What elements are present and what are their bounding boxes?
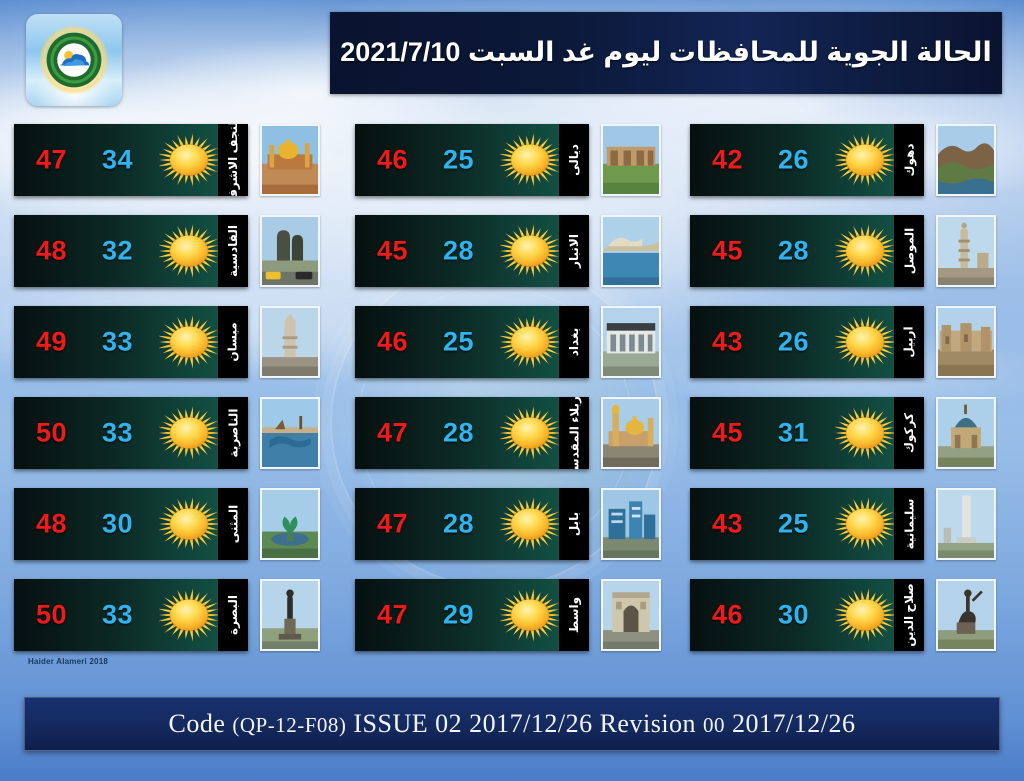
temp-max: 48 <box>36 236 67 267</box>
temp-min: 26 <box>778 145 809 176</box>
city-name-strip: واسط <box>559 579 589 651</box>
condition-icon <box>159 223 219 279</box>
city-name: النجف الاشرف <box>227 124 239 196</box>
city-row[interactable]: 4933ميسان <box>14 306 334 378</box>
condition-icon <box>500 314 560 370</box>
kirkuk-dome-photo <box>936 397 996 469</box>
forecast-panel[interactable]: 4326اربيل <box>690 306 924 378</box>
basra-statue-photo <box>260 579 320 651</box>
temp-min: 28 <box>443 236 474 267</box>
city-name-strip: كربلاء المقدسة <box>559 397 589 469</box>
temp-min: 31 <box>778 418 809 449</box>
temp-min: 32 <box>102 236 133 267</box>
forecast-panel[interactable]: 5033البصرة <box>14 579 248 651</box>
duhok-hills-photo <box>936 124 996 196</box>
city-name: سليمانية <box>903 499 915 550</box>
city-name: الانبار <box>568 234 580 268</box>
column-middle: 4625ديالى4528الانبار4625بغداد4728كربلاء … <box>355 124 675 670</box>
condition-icon <box>159 314 219 370</box>
temp-min: 28 <box>443 509 474 540</box>
forecast-panel[interactable]: 4933ميسان <box>14 306 248 378</box>
city-name-strip: دهوك <box>894 124 924 196</box>
condition-icon <box>159 496 219 552</box>
city-row[interactable]: 4531كركوك <box>690 397 1010 469</box>
city-name: ميسان <box>227 322 239 361</box>
city-name-strip: الانبار <box>559 215 589 287</box>
sun-icon <box>159 223 219 279</box>
city-name: الموصل <box>903 228 915 275</box>
footer-revision-date: 2017/12/26 <box>732 709 855 738</box>
temp-max: 47 <box>377 509 408 540</box>
sun-icon <box>159 496 219 552</box>
city-grid: 4734النجف الاشرف4832القادسية4933ميسان503… <box>0 124 1024 670</box>
forecast-panel[interactable]: 4728كربلاء المقدسة <box>355 397 589 469</box>
footer-code-value: (QP-12-F08) <box>232 713 346 737</box>
organization-logo <box>26 14 122 106</box>
city-row[interactable]: 4729واسط <box>355 579 675 651</box>
condition-icon <box>835 223 895 279</box>
city-name-strip: ديالى <box>559 124 589 196</box>
forecast-panel[interactable]: 4729واسط <box>355 579 589 651</box>
page-title: الحالة الجوية للمحافظات ليوم غد السبت 20… <box>324 36 1007 70</box>
city-name: الناصرية <box>227 409 239 458</box>
city-row[interactable]: 4528الانبار <box>355 215 675 287</box>
sun-icon <box>159 132 219 188</box>
forecast-panel[interactable]: 4630صلاح الدين <box>690 579 924 651</box>
condition-icon <box>835 587 895 643</box>
city-row[interactable]: 4528الموصل <box>690 215 1010 287</box>
temp-max: 47 <box>377 418 408 449</box>
mosul-minaret-photo <box>936 215 996 287</box>
nasiriyah-river-photo <box>260 397 320 469</box>
forecast-panel[interactable]: 5033الناصرية <box>14 397 248 469</box>
city-name-strip: كركوك <box>894 397 924 469</box>
forecast-panel[interactable]: 4528الانبار <box>355 215 589 287</box>
temp-max: 48 <box>36 509 67 540</box>
city-row[interactable]: 4326اربيل <box>690 306 1010 378</box>
condition-icon <box>500 223 560 279</box>
city-name-strip: صلاح الدين <box>894 579 924 651</box>
title-bar: الحالة الجوية للمحافظات ليوم غد السبت 20… <box>330 12 1002 94</box>
forecast-panel[interactable]: 4531كركوك <box>690 397 924 469</box>
sun-icon <box>835 223 895 279</box>
sun-icon <box>500 405 560 461</box>
footer-issue-date: 2017/12/26 <box>469 709 592 738</box>
author-credit: Haider Alameri 2018 <box>28 657 108 666</box>
city-row[interactable]: 4226دهوك <box>690 124 1010 196</box>
city-name: البصرة <box>227 595 239 635</box>
temp-max: 49 <box>36 327 67 358</box>
condition-icon <box>159 587 219 643</box>
city-name-strip: ميسان <box>218 306 248 378</box>
meteorology-emblem-icon <box>36 22 112 98</box>
sun-icon <box>835 132 895 188</box>
city-name: كربلاء المقدسة <box>568 397 580 469</box>
city-name: واسط <box>568 597 580 633</box>
temp-max: 42 <box>712 145 743 176</box>
condition-icon <box>835 405 895 461</box>
temp-max: 45 <box>712 236 743 267</box>
karbala-shrine-photo <box>601 397 661 469</box>
forecast-panel[interactable]: 4625بغداد <box>355 306 589 378</box>
city-name: ديالى <box>568 144 580 176</box>
sun-icon <box>500 132 560 188</box>
temp-max: 43 <box>712 327 743 358</box>
city-name: اربيل <box>903 326 915 357</box>
weather-board: الحالة الجوية للمحافظات ليوم غد السبت 20… <box>0 0 1024 781</box>
footer-issue-value: 02 <box>435 709 462 738</box>
sun-icon <box>500 314 560 370</box>
city-name-strip: المثنى <box>218 488 248 560</box>
city-name: بابل <box>568 512 580 536</box>
temp-min: 30 <box>102 509 133 540</box>
sulaymaniyah-monument-photo <box>936 488 996 560</box>
sun-icon <box>500 223 560 279</box>
temp-max: 47 <box>377 600 408 631</box>
sun-icon <box>159 587 219 643</box>
sun-icon <box>835 587 895 643</box>
temp-min: 29 <box>443 600 474 631</box>
city-name-strip: النجف الاشرف <box>218 124 248 196</box>
condition-icon <box>159 132 219 188</box>
temp-min: 28 <box>443 418 474 449</box>
footer-issue-label: ISSUE <box>353 709 428 738</box>
city-name: القادسية <box>227 225 239 277</box>
forecast-panel[interactable]: 4625ديالى <box>355 124 589 196</box>
temp-min: 25 <box>443 145 474 176</box>
city-row[interactable]: 4830المثنى <box>14 488 334 560</box>
baghdad-building-photo <box>601 306 661 378</box>
babil-towers-photo <box>601 488 661 560</box>
temp-max: 43 <box>712 509 743 540</box>
city-name: صلاح الدين <box>903 583 915 647</box>
temp-min: 34 <box>102 145 133 176</box>
city-name-strip: الموصل <box>894 215 924 287</box>
city-row[interactable]: 4728بابل <box>355 488 675 560</box>
city-row[interactable]: 4728كربلاء المقدسة <box>355 397 675 469</box>
condition-icon <box>500 405 560 461</box>
wasit-arch-photo <box>601 579 661 651</box>
temp-max: 50 <box>36 600 67 631</box>
temp-min: 25 <box>778 509 809 540</box>
condition-icon <box>835 314 895 370</box>
city-name-strip: بابل <box>559 488 589 560</box>
temp-max: 46 <box>712 600 743 631</box>
city-row[interactable]: 4625بغداد <box>355 306 675 378</box>
forecast-panel[interactable]: 4528الموصل <box>690 215 924 287</box>
sun-icon <box>159 405 219 461</box>
footer-text: Code (QP-12-F08) ISSUE 02 2017/12/26 Rev… <box>169 709 856 739</box>
city-name-strip: بغداد <box>559 306 589 378</box>
document-control-footer: Code (QP-12-F08) ISSUE 02 2017/12/26 Rev… <box>24 697 1000 751</box>
forecast-panel[interactable]: 4226دهوك <box>690 124 924 196</box>
sun-icon <box>835 405 895 461</box>
city-name: بغداد <box>568 328 580 356</box>
temp-max: 45 <box>712 418 743 449</box>
city-name: دهوك <box>903 144 915 177</box>
city-row[interactable]: 4832القادسية <box>14 215 334 287</box>
city-row[interactable]: 5033الناصرية <box>14 397 334 469</box>
column-left: 4734النجف الاشرف4832القادسية4933ميسان503… <box>14 124 334 670</box>
forecast-panel[interactable]: 4728بابل <box>355 488 589 560</box>
city-name: المثنى <box>227 505 239 544</box>
forecast-panel[interactable]: 4832القادسية <box>14 215 248 287</box>
column-right: 4226دهوك4528الموصل4326اربيل4531كركوك4325… <box>690 124 1010 670</box>
amarah-tower-photo <box>260 306 320 378</box>
forecast-panel[interactable]: 4325سليمانية <box>690 488 924 560</box>
temp-min: 30 <box>778 600 809 631</box>
city-name-strip: سليمانية <box>894 488 924 560</box>
city-row[interactable]: 5033البصرة <box>14 579 334 651</box>
footer-revision-value: 00 <box>703 713 725 737</box>
salahaddin-statue-photo <box>936 579 996 651</box>
sun-icon <box>500 587 560 643</box>
condition-icon <box>500 587 560 643</box>
temp-min: 33 <box>102 600 133 631</box>
sun-icon <box>835 496 895 552</box>
diwaniyah-monument-photo <box>260 215 320 287</box>
sun-icon <box>159 314 219 370</box>
temp-max: 46 <box>377 145 408 176</box>
temp-max: 47 <box>36 145 67 176</box>
temp-min: 33 <box>102 418 133 449</box>
temp-min: 28 <box>778 236 809 267</box>
condition-icon <box>159 405 219 461</box>
temp-max: 45 <box>377 236 408 267</box>
city-name-strip: اربيل <box>894 306 924 378</box>
footer-revision-label: Revision <box>600 709 696 738</box>
anbar-lake-photo <box>601 215 661 287</box>
city-name-strip: الناصرية <box>218 397 248 469</box>
temp-max: 50 <box>36 418 67 449</box>
sun-icon <box>835 314 895 370</box>
sun-icon <box>500 496 560 552</box>
temp-min: 26 <box>778 327 809 358</box>
condition-icon <box>500 132 560 188</box>
najaf-shrine-photo <box>260 124 320 196</box>
condition-icon <box>500 496 560 552</box>
diyala-park-photo <box>601 124 661 196</box>
city-name-strip: البصرة <box>218 579 248 651</box>
city-row[interactable]: 4630صلاح الدين <box>690 579 1010 651</box>
condition-icon <box>835 496 895 552</box>
city-row[interactable]: 4625ديالى <box>355 124 675 196</box>
city-row[interactable]: 4325سليمانية <box>690 488 1010 560</box>
header: الحالة الجوية للمحافظات ليوم غد السبت 20… <box>0 0 1024 113</box>
condition-icon <box>835 132 895 188</box>
footer-code-label: Code <box>169 709 226 738</box>
samawah-fountain-photo <box>260 488 320 560</box>
forecast-panel[interactable]: 4830المثنى <box>14 488 248 560</box>
temp-max: 46 <box>377 327 408 358</box>
erbil-citadel-photo <box>936 306 996 378</box>
city-name-strip: القادسية <box>218 215 248 287</box>
temp-min: 33 <box>102 327 133 358</box>
temp-min: 25 <box>443 327 474 358</box>
city-row[interactable]: 4734النجف الاشرف <box>14 124 334 196</box>
forecast-panel[interactable]: 4734النجف الاشرف <box>14 124 248 196</box>
city-name: كركوك <box>903 413 915 453</box>
